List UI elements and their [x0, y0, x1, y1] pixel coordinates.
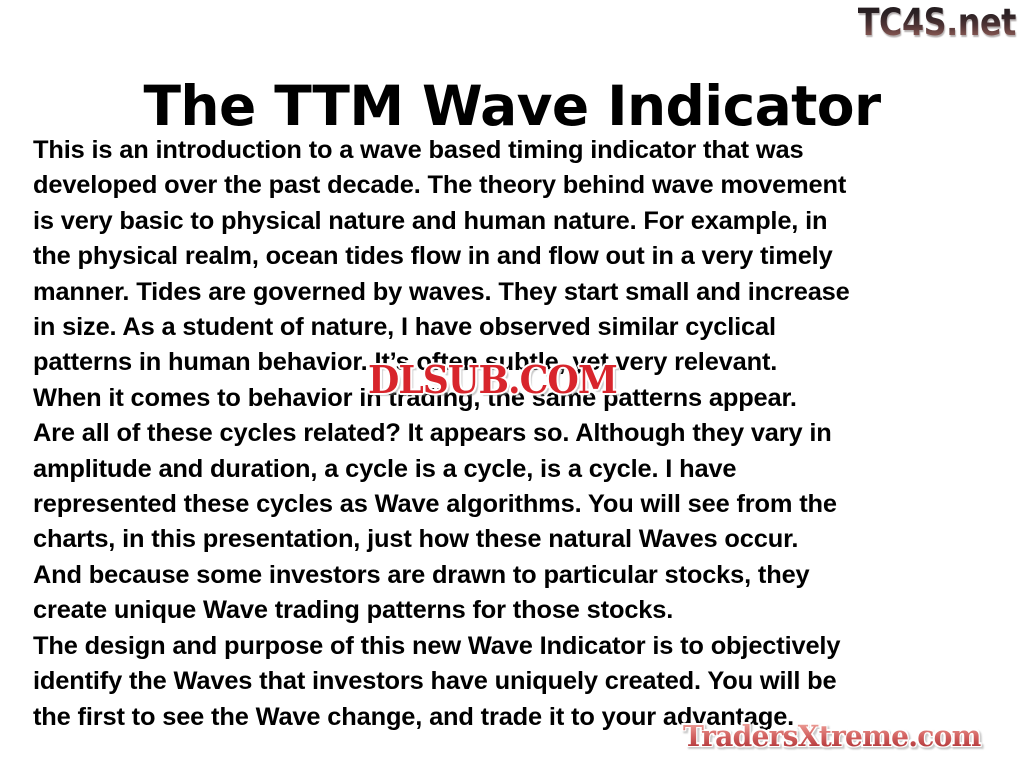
body-line: manner. Tides are governed by waves. The… [33, 275, 993, 310]
body-line: the physical realm, ocean tides flow in … [33, 239, 993, 274]
slide-canvas: TC4S.net The TTM Wave Indicator This is … [0, 0, 1024, 768]
tradersxtreme-brand-logo: TradersXtreme.com [683, 718, 981, 754]
body-line: identify the Waves that investors have u… [33, 664, 993, 699]
body-line: The design and purpose of this new Wave … [33, 629, 993, 664]
body-line: When it comes to behavior in trading, th… [33, 381, 993, 416]
body-line: developed over the past decade. The theo… [33, 168, 993, 203]
page-title: The TTM Wave Indicator [0, 75, 1024, 137]
body-line: And because some investors are drawn to … [33, 558, 993, 593]
body-line: represented these cycles as Wave algorit… [33, 487, 993, 522]
tc4s-brand-logo: TC4S.net [858, 1, 1016, 45]
body-line: charts, in this presentation, just how t… [33, 522, 993, 557]
body-line: amplitude and duration, a cycle is a cyc… [33, 452, 993, 487]
body-line: in size. As a student of nature, I have … [33, 310, 993, 345]
body-line: create unique Wave trading patterns for … [33, 593, 993, 628]
body-line: patterns in human behavior. It’s often s… [33, 345, 993, 380]
body-text-block: This is an introduction to a wave based … [33, 133, 993, 735]
body-line: is very basic to physical nature and hum… [33, 204, 993, 239]
body-line: Are all of these cycles related? It appe… [33, 416, 993, 451]
body-line: This is an introduction to a wave based … [33, 133, 993, 168]
